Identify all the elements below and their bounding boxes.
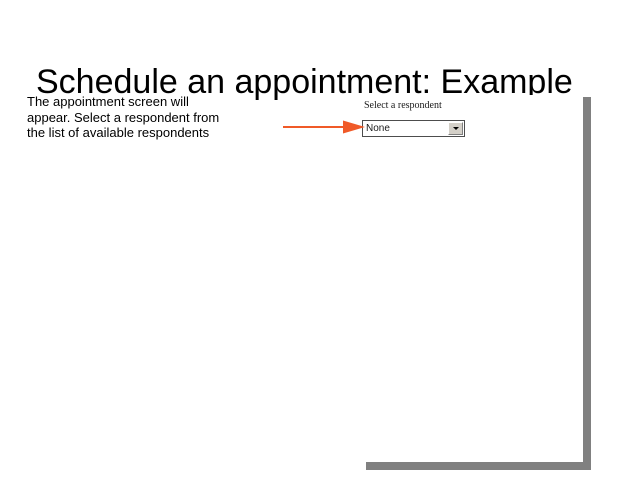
caption-line: appear. Select a respondent from <box>27 110 257 126</box>
caret-glyph <box>453 127 459 130</box>
chevron-down-icon[interactable] <box>448 122 463 135</box>
caption-text: The appointment screen will appear. Sele… <box>27 94 257 141</box>
respondent-field-label: Select a respondent <box>364 100 442 112</box>
respondent-select-value: None <box>363 121 448 136</box>
screenshot-shadow-bottom <box>366 462 587 470</box>
annotation-arrow-icon <box>281 118 367 136</box>
embedded-app-screenshot <box>362 95 591 470</box>
caption-line: The appointment screen will <box>27 94 257 110</box>
respondent-select[interactable]: None <box>362 120 465 137</box>
caption-line: the list of available respondents <box>27 125 257 141</box>
presentation-slide: Schedule an appointment: Example The app… <box>0 0 640 480</box>
screenshot-shadow-right <box>583 97 591 470</box>
